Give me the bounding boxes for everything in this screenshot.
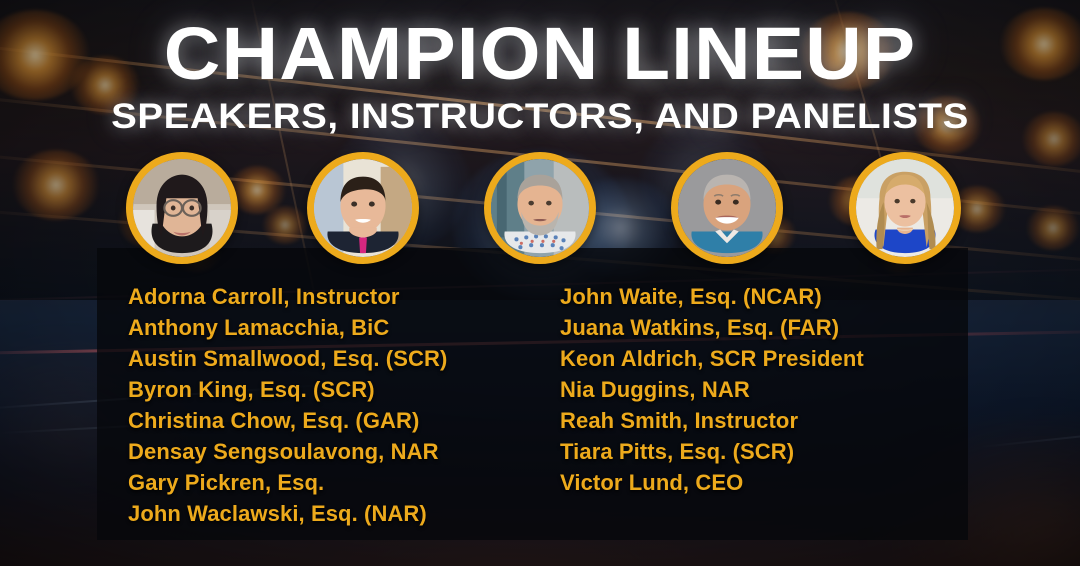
- avatar: [133, 159, 231, 257]
- list-item: Austin Smallwood, Esq. (SCR): [128, 343, 560, 374]
- list-item: Reah Smith, Instructor: [560, 405, 980, 436]
- avatar: [314, 159, 412, 257]
- list-item: Byron King, Esq. (SCR): [128, 374, 560, 405]
- headshot-4: [671, 152, 783, 264]
- list-item: Anthony Lamacchia, BiC: [128, 312, 560, 343]
- list-item: Nia Duggins, NAR: [560, 374, 980, 405]
- list-item: Tiara Pitts, Esq. (SCR): [560, 436, 980, 467]
- headshot-3: [484, 152, 596, 264]
- headshot-5: [849, 152, 961, 264]
- promo-graphic: CHAMPION LINEUP SPEAKERS, INSTRUCTORS, A…: [0, 0, 1080, 566]
- headshot-2: [307, 152, 419, 264]
- list-item: John Waclawski, Esq. (NAR): [128, 498, 560, 529]
- avatar: [491, 159, 589, 257]
- list-item: John Waite, Esq. (NCAR): [560, 281, 980, 312]
- page-subtitle: SPEAKERS, INSTRUCTORS, AND PANELISTS: [0, 97, 1080, 137]
- page-title: CHAMPION LINEUP: [0, 18, 1080, 91]
- list-item: Victor Lund, CEO: [560, 467, 980, 498]
- headshot-1: [126, 152, 238, 264]
- roster-right-column: John Waite, Esq. (NCAR) Juana Watkins, E…: [560, 281, 980, 529]
- title-block: CHAMPION LINEUP SPEAKERS, INSTRUCTORS, A…: [0, 18, 1080, 137]
- list-item: Keon Aldrich, SCR President: [560, 343, 980, 374]
- list-item: Christina Chow, Esq. (GAR): [128, 405, 560, 436]
- avatar: [678, 159, 776, 257]
- list-item: Densay Sengsoulavong, NAR: [128, 436, 560, 467]
- list-item: Gary Pickren, Esq.: [128, 467, 560, 498]
- roster-left-column: Adorna Carroll, Instructor Anthony Lamac…: [128, 281, 560, 529]
- list-item: Juana Watkins, Esq. (FAR): [560, 312, 980, 343]
- list-item: Adorna Carroll, Instructor: [128, 281, 560, 312]
- avatar: [856, 159, 954, 257]
- roster-list: Adorna Carroll, Instructor Anthony Lamac…: [128, 281, 988, 529]
